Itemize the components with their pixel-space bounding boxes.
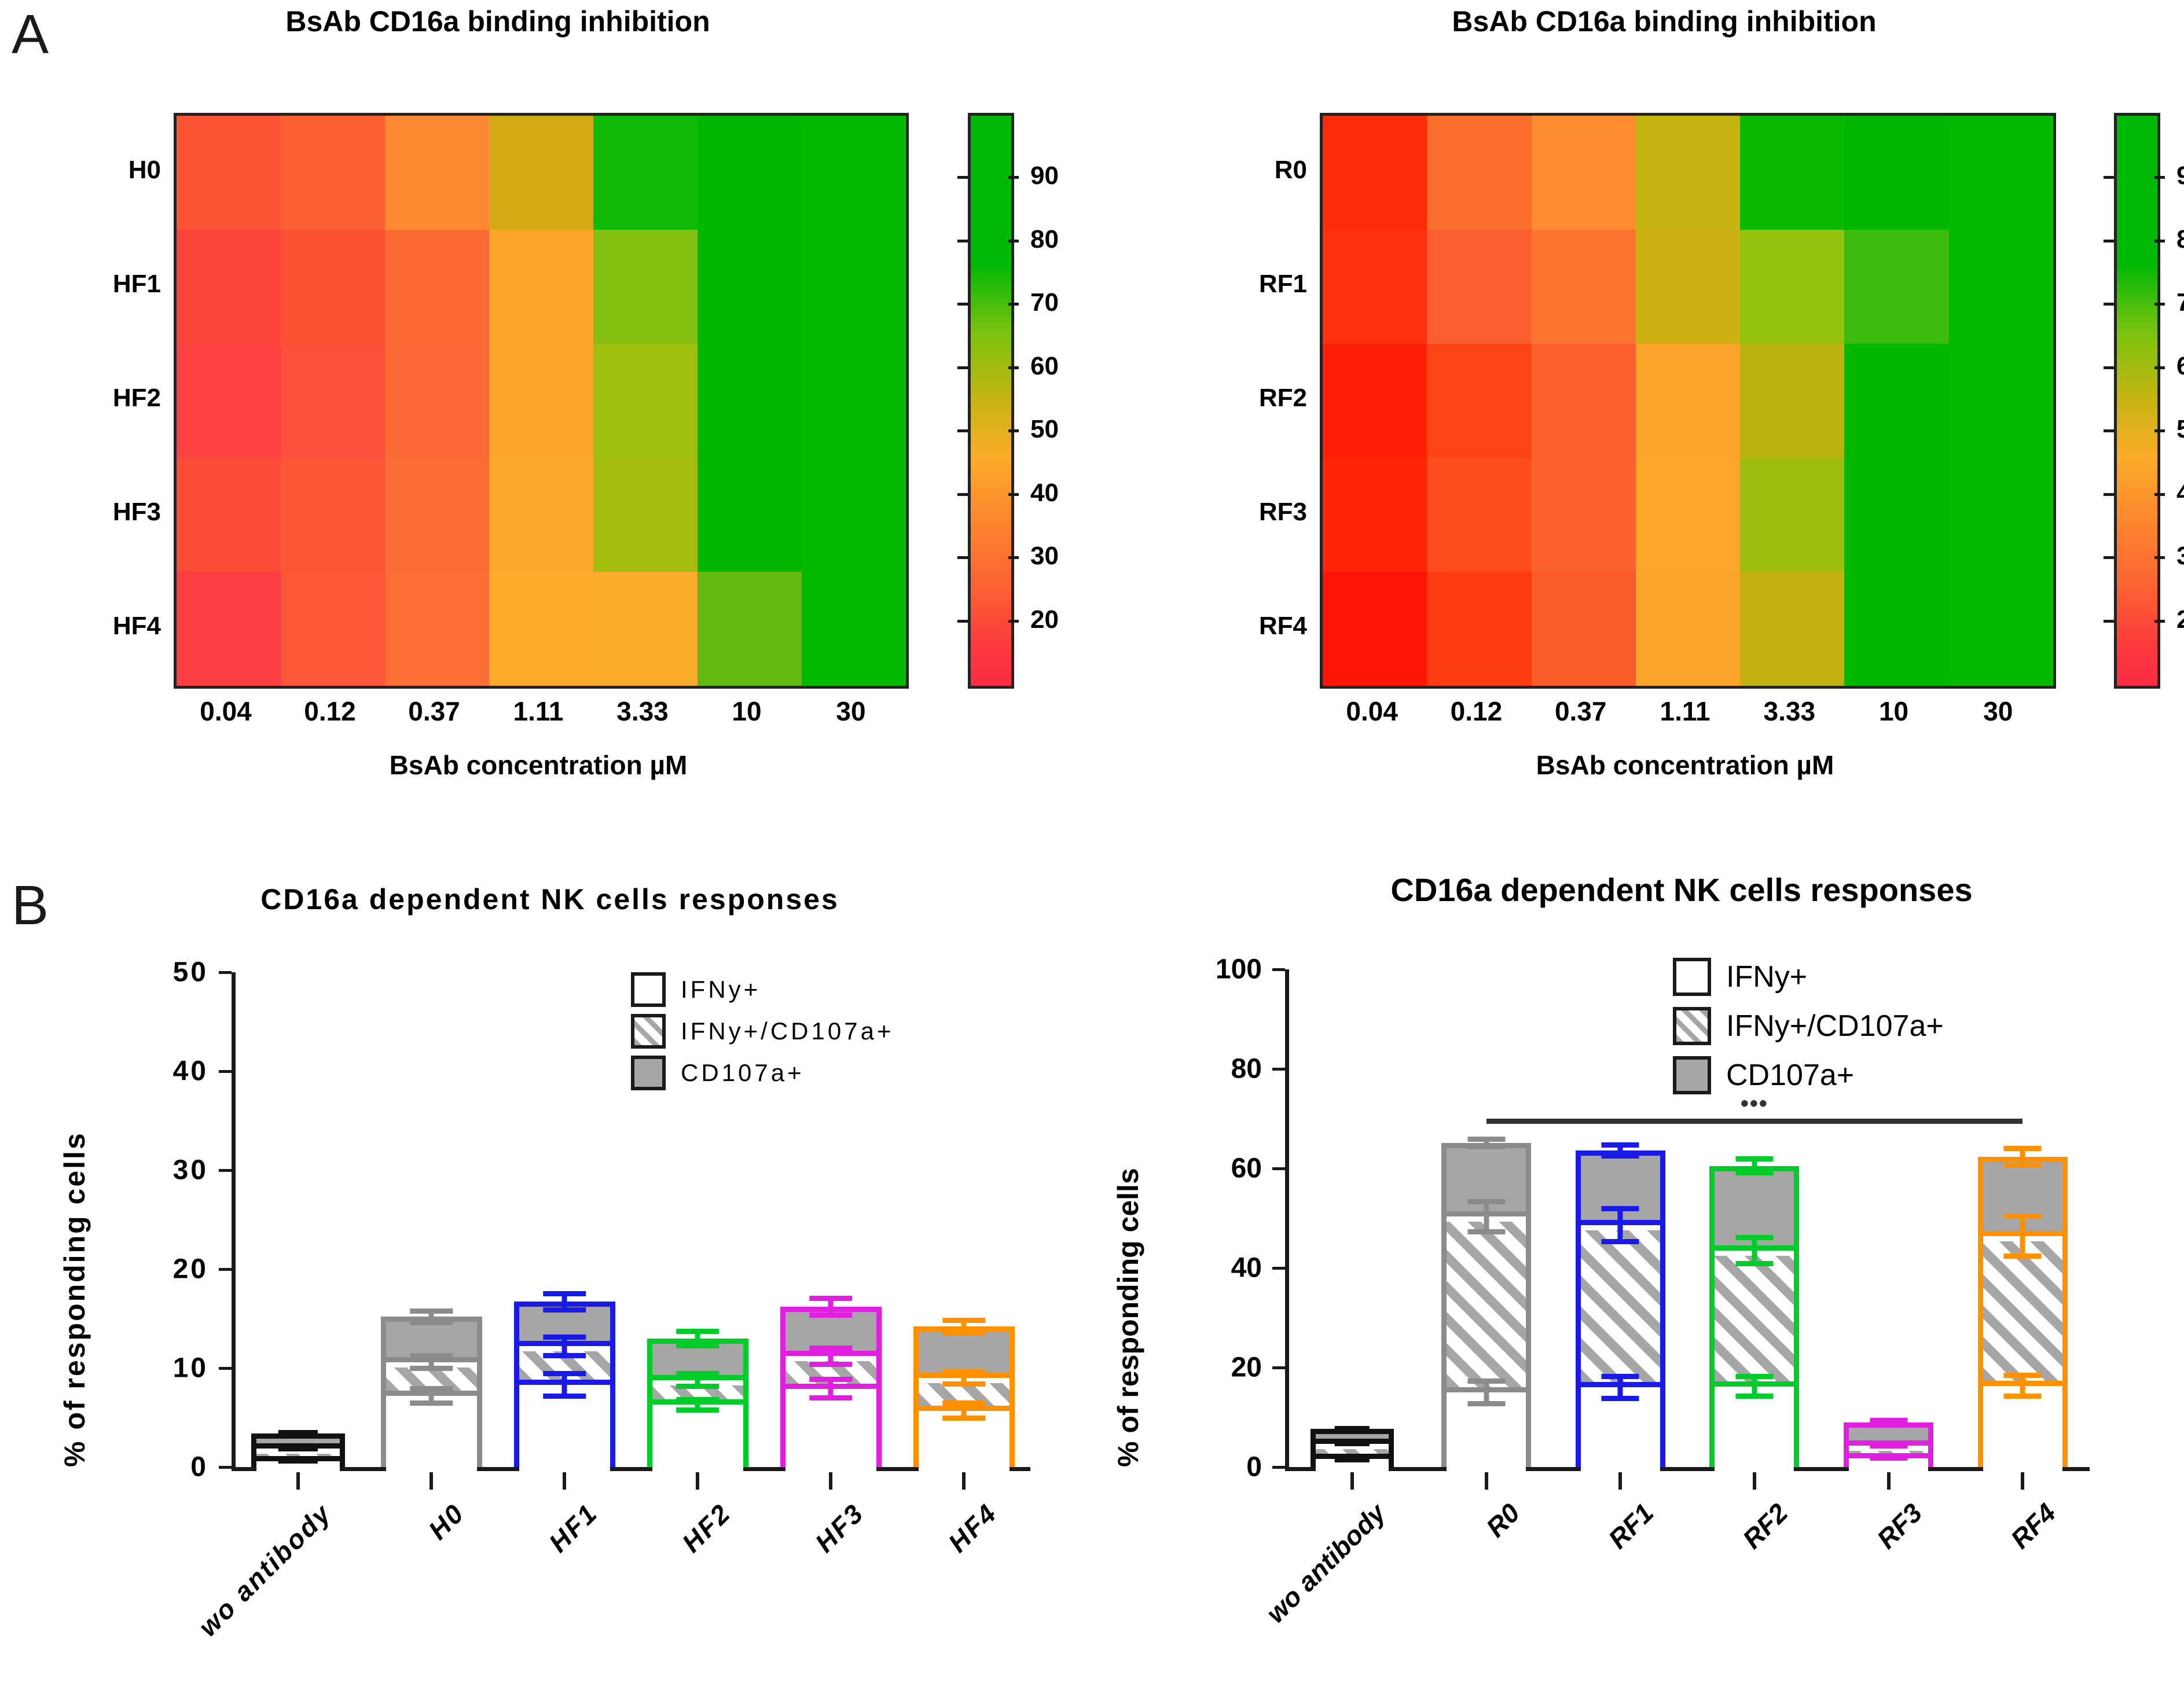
heatmap-cell — [802, 116, 906, 230]
heatmap-cell — [281, 458, 385, 572]
colorbar-tick — [1008, 620, 1019, 623]
heatmap-cell — [802, 230, 906, 344]
bar-segment-ifny — [256, 1466, 340, 1472]
error-bar — [780, 1346, 882, 1367]
heatmap-cell — [281, 344, 385, 458]
y-axis-title: % of responding cells — [1111, 1168, 1145, 1467]
legend-swatch-ifny — [1673, 958, 1711, 996]
heatmap-row-label: HF3 — [113, 498, 161, 527]
heatmap-col-label: 0.12 — [1451, 696, 1503, 727]
bar-r0 — [1441, 1143, 1531, 1467]
colorbar-tick — [1008, 493, 1019, 496]
colorbar-tick — [1008, 303, 1019, 306]
y-axis-tick — [219, 971, 232, 974]
error-bar-cap — [1870, 1443, 1907, 1449]
heatmap-cell — [1636, 116, 1740, 230]
error-bar — [1709, 1235, 1799, 1266]
error-bar-cap — [543, 1371, 586, 1376]
colorbar-tick — [957, 556, 968, 559]
y-axis-title: % of responding cells — [58, 1131, 91, 1467]
heatmap-col-label: 30 — [1983, 696, 2013, 727]
error-bar-cap — [410, 1386, 453, 1391]
heatmap-cell — [1949, 230, 2053, 344]
x-axis-tick — [1887, 1471, 1891, 1490]
error-bar-cap — [942, 1400, 985, 1406]
heatmap-col-label: 10 — [732, 696, 761, 727]
heatmap-col-label: 0.04 — [200, 696, 252, 727]
bar-segment-ifny — [785, 1394, 876, 1472]
heatmap-grid — [1320, 113, 2056, 689]
error-bar — [1844, 1418, 1933, 1427]
error-bar — [1844, 1455, 1933, 1461]
bar-segment-ifny-cd107a — [1581, 1230, 1660, 1387]
x-axis-line — [1285, 1467, 2090, 1471]
heatmap-cell — [593, 572, 698, 686]
heatmap-cell — [698, 572, 802, 686]
heatmap-colorbar — [968, 113, 1014, 689]
heatmap-grid — [174, 113, 909, 689]
error-bar-cap — [2004, 1394, 2042, 1399]
bar-segment-ifny — [652, 1410, 743, 1472]
heatmap-cell — [1636, 572, 1740, 686]
y-axis-tick — [1272, 1068, 1285, 1071]
error-bar-cap — [278, 1432, 318, 1437]
heatmap-cell — [593, 230, 698, 344]
error-bar-cap — [2004, 1253, 2042, 1259]
bar-chart-right: 020406080100% of responding cellswo anti… — [1094, 856, 2184, 1661]
heatmap-col-label: 0.37 — [1555, 696, 1607, 727]
legend-swatch-ifny-cd107a — [1673, 1007, 1711, 1045]
error-bar-cap — [809, 1377, 852, 1382]
heatmap-cell — [1427, 572, 1531, 686]
colorbar-tick — [1008, 240, 1019, 242]
heatmap-row-label: HF1 — [113, 270, 161, 299]
colorbar-tick-label: 20 — [2176, 605, 2184, 634]
heatmap-cell — [1427, 116, 1531, 230]
error-bar — [514, 1335, 615, 1358]
heatmap-cell — [489, 116, 593, 230]
error-bar-cap — [2004, 1214, 2042, 1219]
heatmap-col-label: 1.11 — [513, 696, 564, 727]
colorbar-tick — [957, 620, 968, 623]
heatmap-cell — [1949, 458, 2053, 572]
heatmap-cell — [1740, 116, 1844, 230]
error-bar — [1844, 1443, 1933, 1449]
error-bar — [1311, 1426, 1394, 1432]
legend-label: IFNy+/CD107a+ — [681, 1017, 894, 1045]
colorbar-tick — [2154, 366, 2165, 369]
error-bar-cap — [1335, 1427, 1370, 1432]
x-axis-tick — [1485, 1471, 1488, 1490]
colorbar-tick-label: 60 — [1030, 352, 1059, 381]
heatmap-col-label: 30 — [836, 696, 865, 727]
error-bar — [1709, 1374, 1799, 1399]
heatmap-cell — [1532, 344, 1636, 458]
error-bar — [647, 1329, 748, 1348]
heatmap-col-label: 0.04 — [1346, 696, 1398, 727]
heatmap-cell — [489, 230, 593, 344]
legend-item: IFNy+ — [1673, 958, 1807, 996]
error-bar-cap — [1735, 1394, 1773, 1399]
error-bar-cap — [543, 1353, 586, 1358]
error-bar-cap — [1467, 1137, 1505, 1142]
heatmap-cell — [1636, 230, 1740, 344]
x-axis-tick — [696, 1471, 699, 1490]
heatmap-cell — [1323, 344, 1427, 458]
colorbar-tick — [957, 493, 968, 496]
error-bar-cap — [1870, 1421, 1907, 1427]
heatmap-col-label: 3.33 — [1764, 696, 1816, 727]
y-axis-tick-label: 50 — [81, 957, 208, 988]
error-bar — [251, 1445, 346, 1451]
heatmap-row-label: RF2 — [1259, 384, 1307, 413]
heatmap-cell — [1949, 116, 2053, 230]
colorbar-tick — [2104, 366, 2114, 369]
heatmap-cell — [698, 230, 802, 344]
error-bar-cap — [410, 1400, 453, 1406]
bar-hf4 — [913, 1326, 1015, 1467]
x-axis-tick — [829, 1471, 832, 1490]
error-bar-cap — [543, 1291, 586, 1296]
heatmap-cell — [281, 230, 385, 344]
heatmap-cell — [1427, 344, 1531, 458]
heatmap-cell — [1740, 230, 1844, 344]
heatmap-cell — [385, 572, 489, 686]
x-axis-tick — [962, 1471, 966, 1490]
error-bar — [1709, 1156, 1799, 1175]
x-axis-tick — [1753, 1471, 1756, 1490]
heatmap-cell — [1844, 344, 1948, 458]
colorbar-tick — [2104, 556, 2114, 559]
legend-swatch-ifny — [631, 972, 666, 1007]
colorbar-tick-label: 40 — [1030, 479, 1059, 508]
colorbar-tick-label: 60 — [2176, 352, 2184, 381]
error-bar-cap — [676, 1397, 719, 1402]
legend-label: IFNy+ — [681, 976, 761, 1003]
y-axis-tick — [219, 1169, 232, 1172]
colorbar-tick-label: 50 — [1030, 415, 1059, 444]
colorbar-tick — [1008, 429, 1019, 432]
heatmap-cell — [385, 116, 489, 230]
colorbar-tick — [2104, 176, 2114, 179]
error-bar-cap — [942, 1416, 985, 1421]
heatmap-row-label: HF4 — [113, 612, 161, 641]
error-bar — [1978, 1214, 2068, 1258]
colorbar-tick — [2104, 429, 2114, 432]
heatmap-row-label: RF4 — [1259, 612, 1307, 641]
error-bar-cap — [1467, 1378, 1505, 1384]
y-axis-tick — [219, 1367, 232, 1370]
y-axis-tick — [1272, 1267, 1285, 1270]
colorbar-tick-label: 70 — [2176, 288, 2184, 317]
heatmap-cell — [489, 572, 593, 686]
heatmap-left: H0HF1HF2HF3HF40.040.120.371.113.331030Bs… — [0, 0, 1100, 752]
error-bar-cap — [676, 1371, 719, 1376]
error-bar-cap — [543, 1394, 586, 1399]
colorbar-tick — [2104, 493, 2114, 496]
error-bar-cap — [809, 1395, 852, 1400]
error-bar — [1441, 1199, 1531, 1234]
colorbar-tick — [2104, 303, 2114, 306]
heatmap-cell — [593, 344, 698, 458]
error-bar — [381, 1308, 482, 1325]
colorbar-tick-label: 80 — [1030, 225, 1059, 254]
error-bar — [780, 1377, 882, 1400]
significance-stars: ••• — [1741, 1091, 1768, 1117]
error-bar-cap — [1870, 1455, 1907, 1461]
error-bar-cap — [410, 1320, 453, 1325]
heatmap-row-label: RF3 — [1259, 498, 1307, 527]
heatmap-cell — [593, 458, 698, 572]
colorbar-tick — [957, 176, 968, 179]
error-bar — [1978, 1373, 2068, 1399]
error-bar-cap — [1735, 1261, 1773, 1266]
colorbar-tick — [2104, 240, 2114, 242]
y-axis-tick — [1272, 1167, 1285, 1170]
error-bar — [514, 1291, 615, 1313]
error-bar-cap — [410, 1353, 453, 1358]
error-bar-cap — [809, 1346, 852, 1351]
heatmap-cell — [802, 572, 906, 686]
error-bar-cap — [1602, 1239, 1639, 1244]
heatmap-cell — [1532, 572, 1636, 686]
legend-swatch-cd107a — [631, 1056, 666, 1090]
heatmap-cell — [177, 230, 281, 344]
significance-line — [1486, 1119, 2023, 1124]
heatmap-cell — [1740, 344, 1844, 458]
heatmap-col-label: 3.33 — [616, 696, 669, 727]
colorbar-tick-label: 70 — [1030, 288, 1059, 317]
error-bar — [1441, 1137, 1531, 1149]
colorbar-tick-label: 30 — [2176, 542, 2184, 571]
legend-item: CD107a+ — [631, 1056, 805, 1090]
error-bar — [913, 1369, 1015, 1387]
bar-segment-ifny — [1581, 1392, 1660, 1472]
error-bar — [1311, 1457, 1394, 1461]
y-axis-tick — [219, 1070, 232, 1073]
error-bar — [913, 1318, 1015, 1336]
error-bar — [647, 1397, 748, 1413]
error-bar — [251, 1458, 346, 1464]
heatmap-col-label: 0.37 — [408, 696, 460, 727]
legend-swatch-cd107a — [1673, 1056, 1711, 1094]
heatmap-cell — [281, 116, 385, 230]
error-bar-cap — [1467, 1199, 1505, 1204]
heatmap-cell — [1949, 572, 2053, 686]
legend-item: IFNy+/CD107a+ — [631, 1014, 894, 1049]
heatmap-cell — [1323, 230, 1427, 344]
y-axis-tick-label: 30 — [81, 1155, 208, 1186]
legend-label: CD107a+ — [1726, 1058, 1854, 1093]
x-axis-tick — [430, 1471, 433, 1490]
figure-canvas: A BsAb CD16a binding inhibition BsAb CD1… — [0, 0, 2184, 1661]
heatmap-colorbar — [2114, 113, 2160, 689]
y-axis-line — [232, 972, 236, 1467]
error-bar — [1576, 1206, 1665, 1244]
colorbar-tick-label: 20 — [1030, 605, 1059, 634]
x-axis-tick — [296, 1471, 300, 1490]
heatmap-cell — [177, 458, 281, 572]
heatmap-cell — [1844, 458, 1948, 572]
colorbar-tick — [2154, 429, 2165, 432]
error-bar-cap — [1735, 1235, 1773, 1240]
heatmap-cell — [1844, 116, 1948, 230]
error-bar-cap — [1467, 1401, 1505, 1406]
y-axis-tick — [219, 1466, 232, 1469]
bar-chart-left: 01020304050% of responding cellswo antib… — [0, 856, 1100, 1661]
error-bar — [1576, 1142, 1665, 1159]
bar-rf2 — [1709, 1166, 1799, 1467]
error-bar-cap — [942, 1369, 985, 1374]
error-bar-cap — [942, 1381, 985, 1387]
error-bar — [1441, 1378, 1531, 1406]
colorbar-tick — [2154, 176, 2165, 179]
error-bar — [647, 1371, 748, 1389]
legend-label: CD107a+ — [681, 1059, 805, 1087]
heatmap-cell — [1949, 344, 2053, 458]
heatmap-row-label: RF1 — [1259, 270, 1307, 299]
heatmap-cell — [1323, 458, 1427, 572]
error-bar — [381, 1386, 482, 1406]
heatmap-cell — [698, 344, 802, 458]
colorbar-tick — [2154, 556, 2165, 559]
error-bar-line — [2020, 1214, 2025, 1258]
y-axis-tick — [219, 1268, 232, 1271]
heatmap-cell — [1427, 230, 1531, 344]
heatmap-cell — [1532, 116, 1636, 230]
colorbar-tick-label: 80 — [2176, 225, 2184, 254]
bar-segment-ifny — [1849, 1464, 1928, 1472]
y-axis-tick — [1272, 1466, 1285, 1469]
heatmap-cell — [802, 344, 906, 458]
heatmap-col-label: 0.12 — [304, 696, 356, 727]
heatmap-x-axis-title: BsAb concentration µM — [1320, 749, 2050, 781]
heatmap-col-label: 10 — [1879, 696, 1908, 727]
colorbar-tick — [2154, 620, 2165, 623]
bar-segment-ifny-cd107a — [1983, 1241, 2062, 1386]
error-bar-cap — [1735, 1156, 1773, 1161]
error-bar-cap — [1467, 1144, 1505, 1149]
y-axis-tick-label: 40 — [81, 1056, 208, 1087]
x-axis-tick — [563, 1471, 566, 1490]
error-bar-cap — [942, 1330, 985, 1336]
error-bar-cap — [1335, 1456, 1370, 1461]
error-bar — [1576, 1374, 1665, 1400]
error-bar-cap — [1467, 1229, 1505, 1234]
y-axis-tick-label: 60 — [1135, 1153, 1262, 1185]
colorbar-tick — [2154, 493, 2165, 496]
error-bar-cap — [2004, 1163, 2042, 1168]
error-bar-cap — [1602, 1153, 1639, 1159]
colorbar-tick — [2154, 240, 2165, 242]
error-bar-cap — [1602, 1142, 1639, 1148]
bar-rf1 — [1576, 1150, 1665, 1467]
x-axis-line — [232, 1467, 1030, 1471]
error-bar-cap — [1735, 1374, 1773, 1379]
colorbar-tick-label: 90 — [1030, 161, 1059, 190]
error-bar-cap — [2004, 1146, 2042, 1151]
y-axis-tick-label: 0 — [1135, 1451, 1262, 1483]
y-axis-tick-label: 10 — [81, 1352, 208, 1384]
heatmap-cell — [489, 458, 593, 572]
legend-label: IFNy+ — [1726, 960, 1807, 994]
colorbar-tick — [957, 366, 968, 369]
legend-item: IFNy+ — [631, 972, 761, 1007]
colorbar-tick — [1008, 366, 1019, 369]
error-bar-cap — [942, 1318, 985, 1323]
colorbar-tick — [957, 429, 968, 432]
x-axis-tick — [1618, 1471, 1622, 1490]
error-bar — [1311, 1441, 1394, 1446]
heatmap-row-label: H0 — [129, 156, 161, 185]
bar-segment-ifny — [386, 1401, 477, 1472]
heatmap-cell — [281, 572, 385, 686]
heatmap-cell — [593, 116, 698, 230]
y-axis-tick-label: 100 — [1135, 954, 1262, 986]
error-bar — [913, 1400, 1015, 1420]
heatmap-cell — [177, 344, 281, 458]
error-bar — [381, 1353, 482, 1371]
colorbar-tick — [957, 303, 968, 306]
bar-segment-ifny — [1983, 1391, 2062, 1472]
error-bar-cap — [278, 1458, 318, 1464]
y-axis-tick — [1272, 968, 1285, 971]
error-bar-cap — [676, 1343, 719, 1348]
bar-rf4 — [1978, 1157, 2068, 1467]
heatmap-cell — [1740, 458, 1844, 572]
bar-segment-ifny — [519, 1390, 610, 1472]
y-axis-tick-label: 40 — [1135, 1252, 1262, 1284]
heatmap-cell — [385, 458, 489, 572]
heatmap-cell — [698, 458, 802, 572]
heatmap-cell — [1323, 572, 1427, 686]
error-bar-cap — [410, 1308, 453, 1314]
error-bar-cap — [1602, 1396, 1639, 1401]
x-axis-tick — [1350, 1471, 1354, 1490]
error-bar-cap — [809, 1313, 852, 1318]
bar-segment-ifny — [1316, 1464, 1389, 1472]
bar-segment-ifny — [919, 1416, 1010, 1472]
error-bar-cap — [676, 1384, 719, 1389]
heatmap-cell — [177, 116, 281, 230]
colorbar-tick — [1008, 556, 1019, 559]
heatmap-cell — [1844, 572, 1948, 686]
heatmap-row-label: R0 — [1275, 156, 1307, 185]
heatmap-cell — [1532, 458, 1636, 572]
y-axis-line — [1285, 969, 1289, 1467]
heatmap-cell — [1532, 230, 1636, 344]
heatmap-x-axis-title: BsAb concentration µM — [174, 749, 903, 781]
heatmap-cell — [1636, 344, 1740, 458]
heatmap-cell — [177, 572, 281, 686]
heatmap-cell — [1323, 116, 1427, 230]
heatmap-cell — [698, 116, 802, 230]
heatmap-row-label: HF2 — [113, 384, 161, 413]
y-axis-tick-label: 80 — [1135, 1053, 1262, 1085]
error-bar-cap — [410, 1366, 453, 1371]
error-bar-cap — [543, 1335, 586, 1340]
colorbar-tick-label: 30 — [1030, 542, 1059, 571]
heatmap-cell — [385, 230, 489, 344]
heatmap-cell — [385, 344, 489, 458]
y-axis-tick — [1272, 1366, 1285, 1369]
legend-item: CD107a+ — [1673, 1056, 1854, 1094]
legend-swatch-ifny-cd107a — [631, 1014, 666, 1049]
bar-segment-ifny-cd107a — [1447, 1222, 1526, 1392]
legend-item: IFNy+/CD107a+ — [1673, 1007, 1944, 1045]
error-bar-cap — [809, 1296, 852, 1301]
y-axis-tick-label: 20 — [1135, 1352, 1262, 1384]
